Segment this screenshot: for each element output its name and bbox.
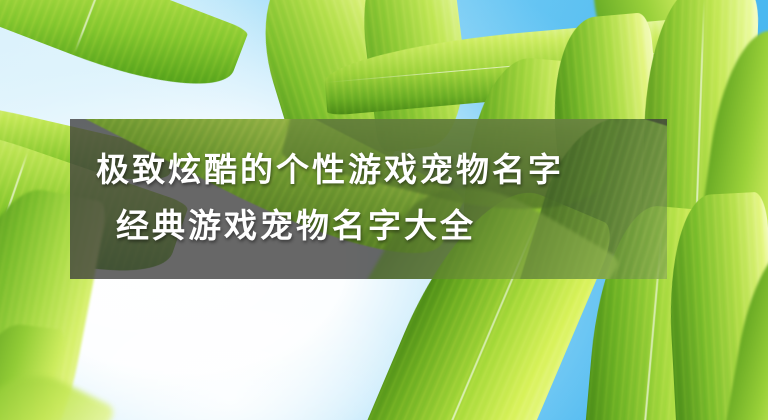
banner-text-block: 极致炫酷的个性游戏宠物名字 经典游戏宠物名字大全 <box>70 119 667 279</box>
title-line-2: 经典游戏宠物名字大全 <box>70 211 667 244</box>
title-line-1: 极致炫酷的个性游戏宠物名字 <box>70 155 667 188</box>
title-banner: 极致炫酷的个性游戏宠物名字 经典游戏宠物名字大全 <box>70 119 667 279</box>
banner-image: 极致炫酷的个性游戏宠物名字 经典游戏宠物名字大全 <box>0 0 768 420</box>
